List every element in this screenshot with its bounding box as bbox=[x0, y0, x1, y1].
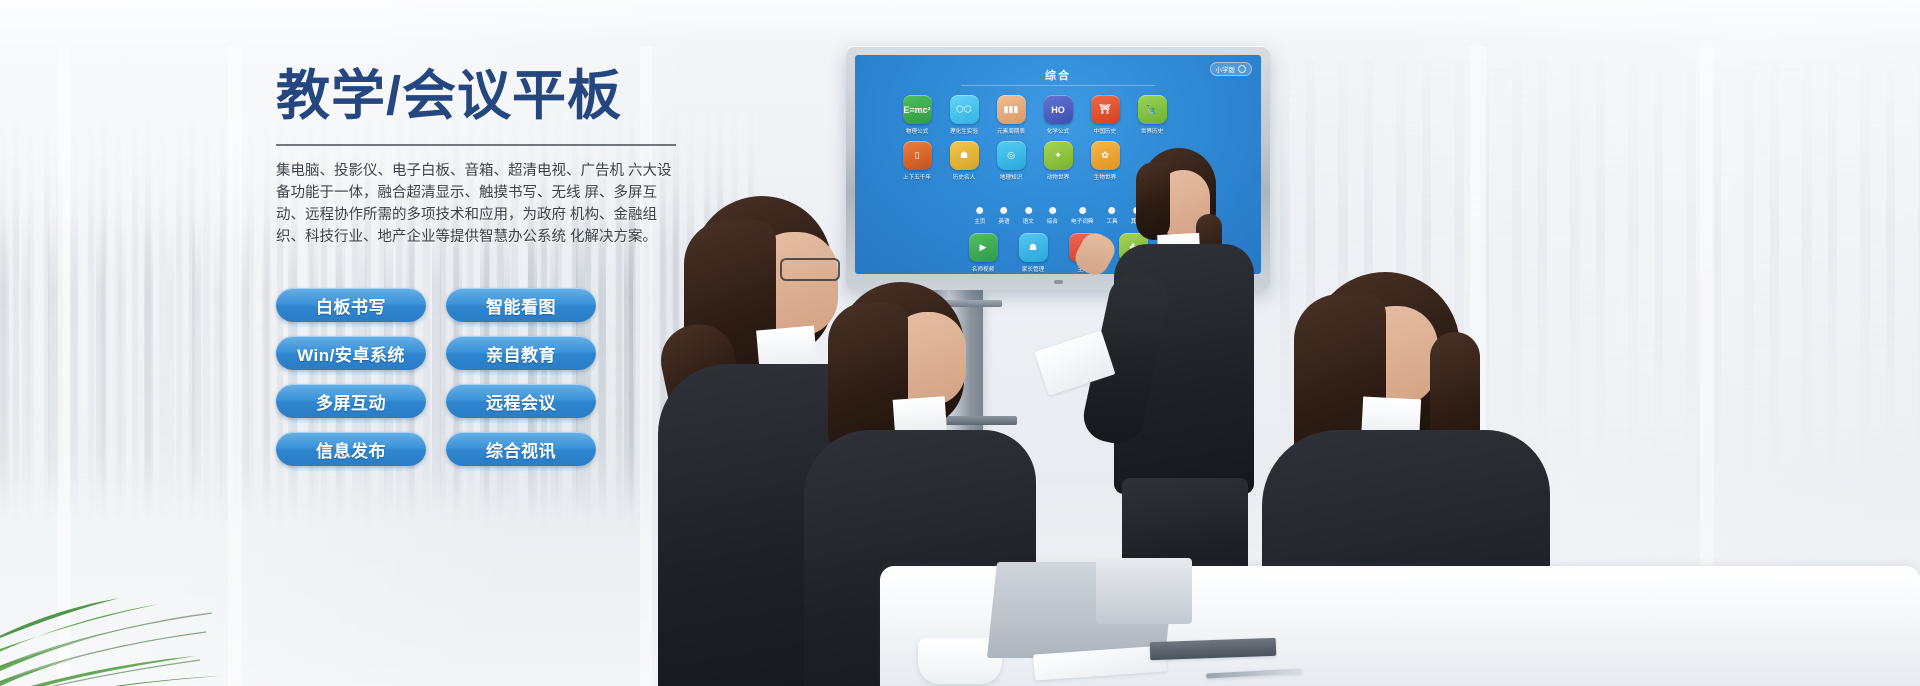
person-presenter bbox=[1100, 148, 1270, 568]
feature-button-remote-meeting[interactable]: 远程会议 bbox=[446, 384, 596, 418]
edition-badge[interactable]: 小学版 bbox=[1210, 62, 1253, 76]
app-label: 家长管理 bbox=[1022, 265, 1044, 273]
laptop-right[interactable] bbox=[1096, 558, 1192, 624]
app-tile-historic-figures[interactable]: ☗ 历史名人 bbox=[943, 141, 985, 181]
app-label: 动物世界 bbox=[1047, 173, 1069, 181]
app-tile-animal-world[interactable]: ✦ 动物世界 bbox=[1037, 141, 1079, 181]
feature-button-smart-image[interactable]: 智能看图 bbox=[446, 288, 596, 322]
screen-title-rule bbox=[961, 85, 1156, 86]
periodic-table-icon: ▮▮▮ bbox=[997, 95, 1026, 124]
category-label: 综合 bbox=[1047, 217, 1058, 225]
app-tile-periodic-table[interactable]: ▮▮▮ 元素周期表 bbox=[990, 95, 1032, 135]
app-tile-physics-formula[interactable]: E=mc² 物理公式 bbox=[896, 95, 938, 135]
app-label: 理化生实验 bbox=[950, 127, 978, 135]
category-dot-icon bbox=[1079, 207, 1086, 214]
chinese-history-icon: ⛩ bbox=[1091, 95, 1120, 124]
app-label: 上下五千年 bbox=[903, 173, 931, 181]
category-item-english[interactable]: 英语 bbox=[998, 207, 1009, 225]
category-item-chinese[interactable]: 语文 bbox=[1023, 207, 1034, 225]
app-label: 历史名人 bbox=[953, 173, 975, 181]
category-label: 英语 bbox=[998, 217, 1009, 225]
category-dot-icon bbox=[976, 207, 983, 214]
category-label: 主页 bbox=[974, 217, 985, 225]
power-icon bbox=[1238, 65, 1246, 73]
title-divider bbox=[276, 144, 676, 146]
category-item-home[interactable]: 主页 bbox=[974, 207, 985, 225]
edition-badge-label: 小学版 bbox=[1216, 64, 1236, 74]
feature-button-grid: 白板书写 智能看图 Win/安卓系统 亲自教育 多屏互动 远程会议 信息发布 综… bbox=[276, 288, 596, 466]
app-label: 名师视频 bbox=[972, 265, 994, 273]
category-label: 电子词典 bbox=[1071, 217, 1093, 225]
world-history-icon: 🗽 bbox=[1138, 95, 1167, 124]
historic-figures-icon: ☗ bbox=[950, 141, 979, 170]
feature-button-info-publish[interactable]: 信息发布 bbox=[276, 432, 426, 466]
teacher-video-icon: ▶ bbox=[969, 233, 998, 262]
hero-text-column: 教学/会议平板 集电脑、投影仪、电子白板、音箱、超清电视、广告机 六大设备功能于… bbox=[276, 66, 686, 248]
camera-icon bbox=[1054, 280, 1063, 284]
feature-button-multiscreen[interactable]: 多屏互动 bbox=[276, 384, 426, 418]
app-label: 世界历史 bbox=[1141, 127, 1163, 135]
app-tile-parent-control[interactable]: ☗ 家长管理 bbox=[1010, 233, 1056, 273]
feature-button-win-android[interactable]: Win/安卓系统 bbox=[276, 336, 426, 370]
category-dot-icon bbox=[1000, 207, 1007, 214]
screen-title: 综合 bbox=[855, 67, 1261, 83]
app-label: 地理知识 bbox=[1000, 173, 1022, 181]
science-lab-icon: ⬡⬡ bbox=[950, 95, 979, 124]
banner-stage: 教学/会议平板 集电脑、投影仪、电子白板、音箱、超清电视、广告机 六大设备功能于… bbox=[0, 0, 1920, 686]
feature-button-video-conf[interactable]: 综合视讯 bbox=[446, 432, 596, 466]
app-tile-geography[interactable]: ◎ 地理知识 bbox=[990, 141, 1032, 181]
animal-world-icon: ✦ bbox=[1044, 141, 1073, 170]
hero-description: 集电脑、投影仪、电子白板、音箱、超清电视、广告机 六大设备功能于一体，融合超清显… bbox=[276, 160, 686, 248]
geography-icon: ◎ bbox=[997, 141, 1026, 170]
category-item-dictionary[interactable]: 电子词典 bbox=[1071, 207, 1093, 225]
app-label: 化学公式 bbox=[1047, 127, 1069, 135]
category-dot-icon bbox=[1049, 207, 1056, 214]
app-tile-spacer bbox=[1178, 95, 1220, 135]
app-tile-chinese-history[interactable]: ⛩ 中国历史 bbox=[1084, 95, 1126, 135]
app-label: 元素周期表 bbox=[997, 127, 1025, 135]
palm-plant-decoration bbox=[0, 456, 310, 686]
physics-formula-icon: E=mc² bbox=[903, 95, 932, 124]
app-tile-teacher-video[interactable]: ▶ 名师视频 bbox=[960, 233, 1006, 273]
five-thousand-years-icon: ▯ bbox=[903, 141, 932, 170]
app-tile-world-history[interactable]: 🗽 世界历史 bbox=[1131, 95, 1173, 135]
app-tile-science-lab[interactable]: ⬡⬡ 理化生实验 bbox=[943, 95, 985, 135]
chemistry-formula-icon: HO bbox=[1044, 95, 1073, 124]
app-label: 物理公式 bbox=[906, 127, 928, 135]
feature-button-education[interactable]: 亲自教育 bbox=[446, 336, 596, 370]
feature-button-whiteboard[interactable]: 白板书写 bbox=[276, 288, 426, 322]
page-title: 教学/会议平板 bbox=[276, 66, 686, 126]
app-label: 中国历史 bbox=[1094, 127, 1116, 135]
category-dot-icon bbox=[1025, 207, 1032, 214]
app-tile-five-thousand-years[interactable]: ▯ 上下五千年 bbox=[896, 141, 938, 181]
glasses-icon bbox=[780, 258, 840, 281]
parent-control-icon: ☗ bbox=[1019, 233, 1048, 262]
app-tile-chemistry-formula[interactable]: HO 化学公式 bbox=[1037, 95, 1079, 135]
category-item-comprehensive[interactable]: 综合 bbox=[1047, 207, 1058, 225]
category-label: 语文 bbox=[1023, 217, 1034, 225]
